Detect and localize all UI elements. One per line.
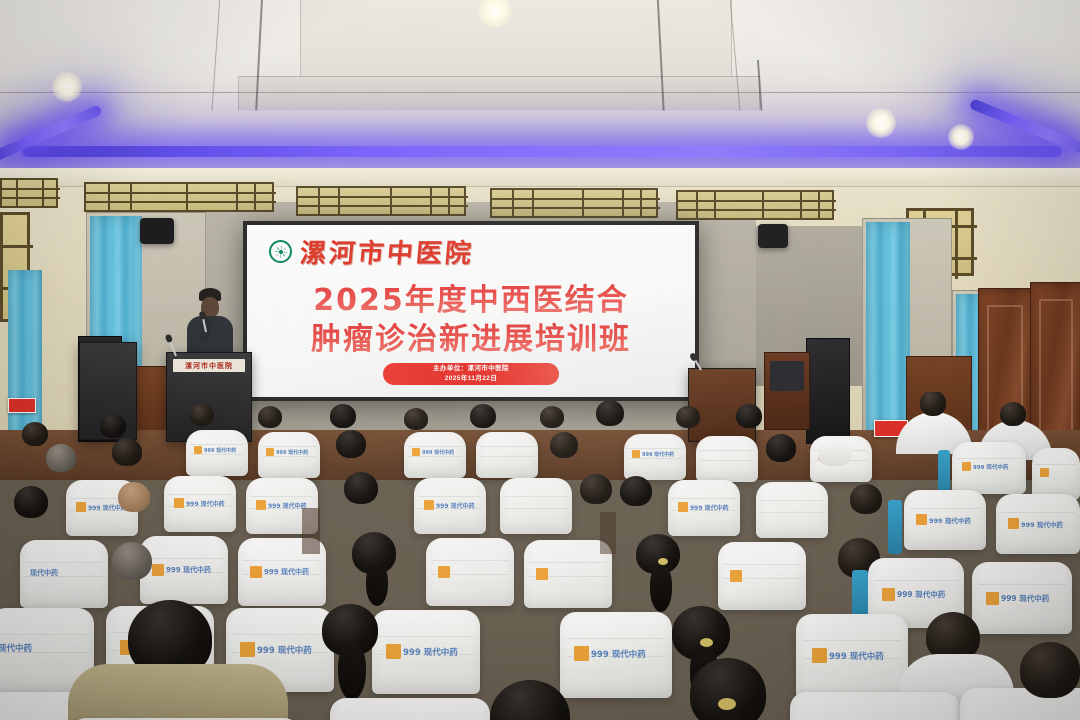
attendee-head	[330, 404, 356, 428]
attendee-hair-tie	[700, 638, 713, 647]
audience-seat: 999 现代中药	[668, 480, 740, 536]
ceiling-downlight	[866, 108, 896, 138]
attendee-head	[190, 404, 214, 426]
ceiling	[0, 0, 1080, 176]
presentation-title: 2025年度中西医结合 肿瘤诊治新进展培训班	[247, 281, 695, 359]
ceiling-downlight	[52, 72, 82, 102]
audience-seat	[1032, 448, 1080, 500]
attendee-head	[344, 472, 378, 504]
lattice-transom-panel	[490, 188, 658, 218]
attendee-head	[596, 400, 624, 426]
hospital-emblem-icon	[269, 240, 292, 263]
attendee-head	[118, 482, 150, 512]
audience-seat: 999 现代中药	[372, 610, 480, 694]
attendee-hair-tie	[658, 558, 668, 565]
wall-speaker-left	[140, 218, 174, 244]
attendee-head-foreground	[490, 680, 570, 720]
title-line-1: 2025年度中西医结合	[247, 281, 695, 320]
ceiling-downlight	[948, 124, 974, 150]
attendee-head	[258, 406, 282, 428]
attendee-white-cap	[818, 440, 852, 466]
audience-seat: 999 现代中药	[414, 478, 486, 534]
audience-seat: 999 现代中药	[258, 432, 320, 478]
attendee-head	[736, 404, 762, 428]
attendee-head	[1000, 402, 1026, 426]
audience-seat: 999 现代中药	[952, 442, 1026, 494]
organizer-line: 主办单位：漯河市中医院	[433, 364, 509, 374]
attendee-head	[46, 444, 76, 472]
attendee-ponytail	[338, 644, 366, 700]
hospital-name-text: 漯河市中医院	[298, 233, 475, 270]
organizer-banner: 主办单位：漯河市中医院 2025年11月22日	[383, 363, 559, 385]
audience-seat-foreground	[330, 698, 490, 720]
lattice-transom-panel	[676, 190, 834, 220]
ceiling-cove-light	[22, 146, 1062, 157]
attendee-head	[112, 542, 152, 580]
audience-seat	[500, 478, 572, 534]
podium-plaque: 漯河市中医院	[173, 359, 245, 372]
attendee-ponytail	[650, 566, 672, 612]
audience-seat	[718, 542, 806, 610]
lattice-transom-panel	[84, 182, 274, 212]
attendee-head	[676, 406, 700, 428]
audience-seat: 999 现代中药	[972, 562, 1072, 634]
aisle-floor	[302, 508, 320, 554]
attendee-head-foreground	[1020, 642, 1080, 698]
audience-seat-foreground	[790, 692, 960, 720]
audience-seat: 999 现代中药	[904, 490, 986, 550]
attendee-head-foreground	[690, 658, 766, 720]
attendee-head	[22, 422, 48, 446]
attendee-head	[540, 406, 564, 428]
attendee-head	[580, 474, 612, 504]
audience-seat: 999 现代中药	[560, 612, 672, 698]
attendee-head	[620, 476, 652, 506]
audience-seat: 999 现代中药	[164, 476, 236, 532]
attendee-head	[850, 484, 882, 514]
lattice-transom-panel	[0, 178, 58, 208]
attendee-shoulders-foreground	[68, 664, 288, 720]
audience-seat: 999 现代中药	[186, 430, 248, 476]
attendee-head	[404, 408, 428, 430]
audience-seat: 999 现代中药	[996, 494, 1080, 554]
audience-seat	[524, 540, 612, 608]
attendee-head	[550, 432, 578, 458]
conference-hall-photo: 漯河市中医院 2025年度中西医结合 肿瘤诊治新进展培训班 主办单位：漯河市中医…	[0, 0, 1080, 720]
audience-seat: 999 现代中药	[796, 614, 908, 700]
attendee-ponytail	[366, 564, 388, 606]
audience-seat: 现代中药	[20, 540, 108, 608]
attendee-head	[100, 414, 126, 438]
attendee-head	[766, 434, 796, 462]
audience-seat: 999 现代中药	[404, 432, 466, 478]
lattice-transom-panel	[296, 186, 466, 216]
audience-seat	[696, 436, 758, 482]
wall-speaker-right	[758, 224, 788, 248]
attendee-head	[920, 392, 946, 416]
audience-seat	[476, 432, 538, 478]
audience-seat: 999 现代中药	[140, 536, 228, 604]
audience-seat	[426, 538, 514, 606]
hospital-logo: 漯河市中医院	[269, 233, 474, 270]
attendee-head	[14, 486, 48, 518]
attendee-head	[336, 430, 366, 458]
attendee-head	[470, 404, 496, 428]
audience-area: 999 现代中药 999 现代中药 999 现代中药 999 现代中药	[0, 392, 1080, 720]
seat-side-panel	[888, 500, 902, 554]
projection-screen-frame: 漯河市中医院 2025年度中西医结合 肿瘤诊治新进展培训班 主办单位：漯河市中医…	[243, 221, 699, 401]
aisle-floor	[600, 512, 616, 554]
attendee-head	[112, 438, 142, 466]
event-date: 2025年11月22日	[445, 374, 497, 384]
audience-seat	[756, 482, 828, 538]
audience-seat: 999 现代中药	[624, 434, 686, 480]
title-line-2: 肿瘤诊治新进展培训班	[247, 320, 695, 359]
projection-screen: 漯河市中医院 2025年度中西医结合 肿瘤诊治新进展培训班 主办单位：漯河市中医…	[247, 225, 695, 397]
attendee-hair-tie	[718, 698, 736, 710]
